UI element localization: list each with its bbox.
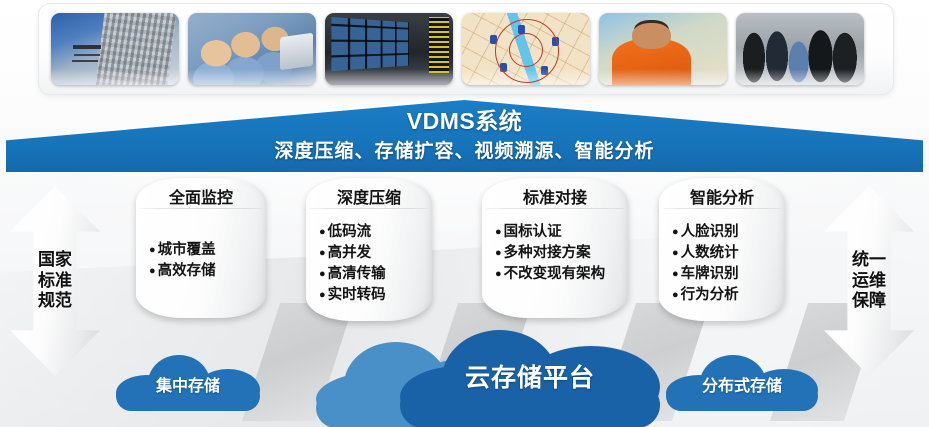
list-item: 高并发 (319, 243, 424, 264)
arrow-left-line-2: 标准 (38, 271, 72, 292)
national-standard-arrow-label: 国家 标准 规范 (10, 186, 100, 376)
unified-ops-arrow-label: 统一 运维 保障 (824, 186, 914, 376)
list-item: 车牌识别 (672, 264, 777, 285)
cloud-left-label: 集中存储 (116, 372, 260, 396)
card-feature-list: 城市覆盖 高效存储 (149, 240, 258, 282)
card-deep-compression[interactable]: 深度压缩 低码流 高并发 高清传输 实时转码 (306, 178, 432, 321)
cloud-main-label: 云存储平台 (400, 358, 660, 394)
arrow-right-line-3: 保障 (852, 291, 886, 312)
card-intelligent-analysis[interactable]: 智能分析 人脸识别 人数统计 车牌识别 行为分析 (659, 178, 785, 321)
list-item: 高清传输 (319, 264, 424, 285)
list-item: 行为分析 (672, 285, 777, 306)
photo-building-camera (51, 13, 179, 85)
list-item: 高效存储 (149, 261, 258, 282)
card-feature-list: 国标认证 多种对接方案 不改变现有架构 (495, 222, 620, 285)
system-banner: VDMS系统 深度压缩、存储扩容、视频溯源、智能分析 (0, 100, 929, 172)
cylinder-lid (662, 208, 782, 209)
arrow-left-line-1: 国家 (38, 250, 72, 271)
vdms-architecture-diagram: VDMS系统 深度压缩、存储扩容、视频溯源、智能分析 国家 标准 规范 统一 运… (0, 0, 929, 427)
list-item: 人数统计 (672, 243, 777, 264)
arrow-left-line-3: 规范 (38, 291, 72, 312)
list-item: 不改变现有架构 (495, 264, 620, 285)
list-item: 低码流 (319, 222, 424, 243)
hero-photo-strip (38, 3, 894, 95)
card-title: 全面监控 (136, 184, 266, 208)
card-title: 标准对接 (482, 184, 628, 208)
card-title: 深度压缩 (306, 184, 432, 208)
arrow-right-line-2: 运维 (852, 271, 886, 292)
list-item: 人脸识别 (672, 222, 777, 243)
card-title: 智能分析 (659, 184, 785, 208)
list-item: 国标认证 (495, 222, 620, 243)
card-feature-list: 低码流 高并发 高清传输 实时转码 (319, 222, 424, 306)
photo-staff-radio (599, 13, 727, 85)
cylinder-lid (485, 208, 625, 209)
banner-title: VDMS系统 (407, 108, 522, 134)
photo-gis-map (462, 13, 590, 85)
arrow-right-line-1: 统一 (852, 250, 886, 271)
card-standard-integration[interactable]: 标准对接 国标认证 多种对接方案 不改变现有架构 (482, 178, 628, 318)
list-item: 多种对接方案 (495, 243, 620, 264)
list-item: 实时转码 (319, 285, 424, 306)
photo-police-operators (188, 13, 316, 85)
card-full-monitoring[interactable]: 全面监控 城市覆盖 高效存储 (136, 178, 266, 318)
cylinder-lid (309, 208, 429, 209)
cylinder-lid (139, 208, 263, 209)
photo-video-wall (325, 13, 453, 85)
cloud-right-label: 分布式存储 (666, 372, 818, 396)
banner-subtitle: 深度压缩、存储扩容、视频溯源、智能分析 (274, 136, 654, 163)
list-item: 城市覆盖 (149, 240, 258, 261)
photo-tactical-team (736, 13, 864, 85)
card-feature-list: 人脸识别 人数统计 车牌识别 行为分析 (672, 222, 777, 306)
